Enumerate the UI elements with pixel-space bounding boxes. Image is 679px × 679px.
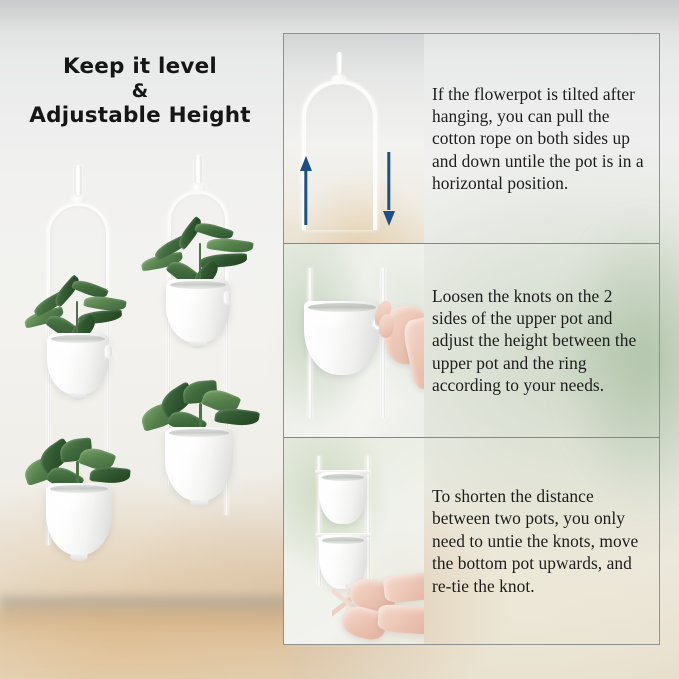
pot-upper [47,333,109,395]
plant-stem [199,403,202,429]
panel-2-illustration [284,244,424,437]
pot-lower [165,427,233,501]
pot-clip [105,345,112,358]
panel-3-text: To shorten the distance between two pots… [432,485,645,597]
panel-2-text-container: Loosen the knots on the 2 sides of the u… [424,244,659,437]
hanger-stem-icon [194,155,201,185]
title-line-2: & [0,80,280,103]
instruction-panel-2: Loosen the knots on the 2 sides of the u… [284,243,659,437]
title-line-1: Keep it level [0,54,280,80]
panel-1-text-container: If the flowerpot is tilted after hanging… [424,34,659,243]
page-title: Keep it level & Adjustable Height [0,54,280,130]
arrow-down-icon [383,152,395,226]
hanger-stem-icon [75,165,82,197]
arrow-shaft [387,152,390,210]
pot-clip [224,291,231,304]
pot-foot [190,500,208,507]
planter-left [18,165,138,565]
arrow-up-icon [300,156,312,226]
panel-3-illustration [284,438,424,644]
arrow-head [383,211,395,226]
panel-1-text: If the flowerpot is tilted after hanging… [432,83,645,195]
instruction-panel-1: If the flowerpot is tilted after hanging… [284,34,659,243]
planter-right [135,155,260,555]
pot-foot [70,393,86,400]
plant-stem [76,301,78,335]
forearm-lower [377,604,424,635]
panel-1-illustration [284,34,424,243]
pot-upper [166,279,230,343]
infographic-canvas: Keep it level & Adjustable Height [0,0,679,679]
plant-stem [199,243,201,279]
pot-foot [70,554,87,561]
panel-divider-2 [284,437,659,438]
pot-upper [319,472,367,524]
pot-foot [190,341,207,348]
panel-divider-1 [284,243,659,244]
leaf [214,406,260,428]
leaf [206,236,253,255]
panel-3-text-container: To shorten the distance between two pots… [424,438,659,644]
background-wood-floor [0,612,290,679]
pot-lower [46,483,112,555]
title-line-3: Adjustable Height [0,103,280,129]
background-ceiling [0,0,679,34]
instruction-panel-3: To shorten the distance between two pots… [284,437,659,644]
hanger-arc-icon [302,80,377,230]
arrow-shaft [304,169,307,225]
forearm-upper [383,571,424,604]
instruction-panel-box: If the flowerpot is tilted after hanging… [283,33,660,645]
panel-2-text: Loosen the knots on the 2 sides of the u… [432,285,645,397]
